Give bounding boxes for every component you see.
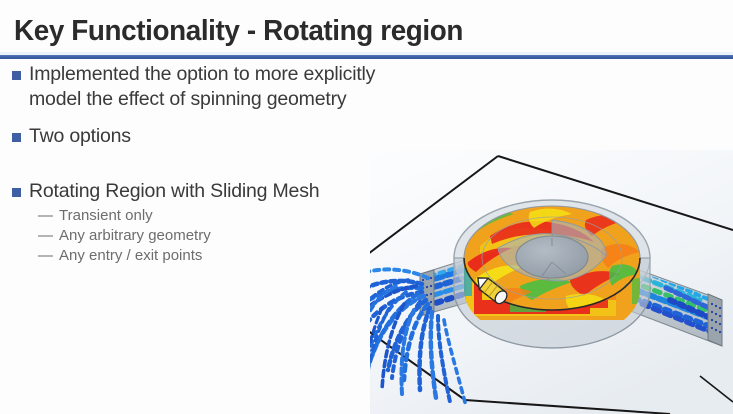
em-dash-icon: — xyxy=(38,207,53,224)
sub-bullet-label: Transient only xyxy=(59,206,153,225)
presentation-slide: Key Functionality - Rotating region Impl… xyxy=(0,0,733,414)
sub-bullet-item: — Any entry / exit points xyxy=(38,246,380,265)
bullet-label: Implemented the option to more explicitl… xyxy=(29,62,380,112)
square-bullet-icon xyxy=(12,71,21,80)
square-bullet-icon xyxy=(12,133,21,142)
sub-bullet-item: — Transient only xyxy=(38,206,380,225)
bullet-item-two-options: Two options xyxy=(0,124,380,149)
sub-bullet-label: Any entry / exit points xyxy=(59,246,202,265)
slide-body: Implemented the option to more explicitl… xyxy=(0,62,380,266)
square-bullet-icon xyxy=(12,188,21,197)
cfd-illustration xyxy=(370,150,733,414)
bullet-item-rotating-region: Rotating Region with Sliding Mesh xyxy=(0,179,380,204)
title-divider xyxy=(0,55,733,59)
em-dash-icon: — xyxy=(38,227,53,244)
sub-bullet-list: — Transient only — Any arbitrary geometr… xyxy=(0,206,380,265)
spacer xyxy=(0,112,380,124)
rotating-region-housing xyxy=(454,200,650,348)
em-dash-icon: — xyxy=(38,247,53,264)
bullet-label: Two options xyxy=(29,124,131,149)
sub-bullet-label: Any arbitrary geometry xyxy=(59,226,211,245)
page-title: Key Functionality - Rotating region xyxy=(14,15,463,48)
bullet-item-implemented: Implemented the option to more explicitl… xyxy=(0,62,380,112)
spacer xyxy=(0,149,380,179)
bullet-label: Rotating Region with Sliding Mesh xyxy=(29,179,319,204)
slide-header: Key Functionality - Rotating region xyxy=(0,0,733,58)
sub-bullet-item: — Any arbitrary geometry xyxy=(38,226,380,245)
cfd-rotating-region-figure xyxy=(370,150,733,414)
